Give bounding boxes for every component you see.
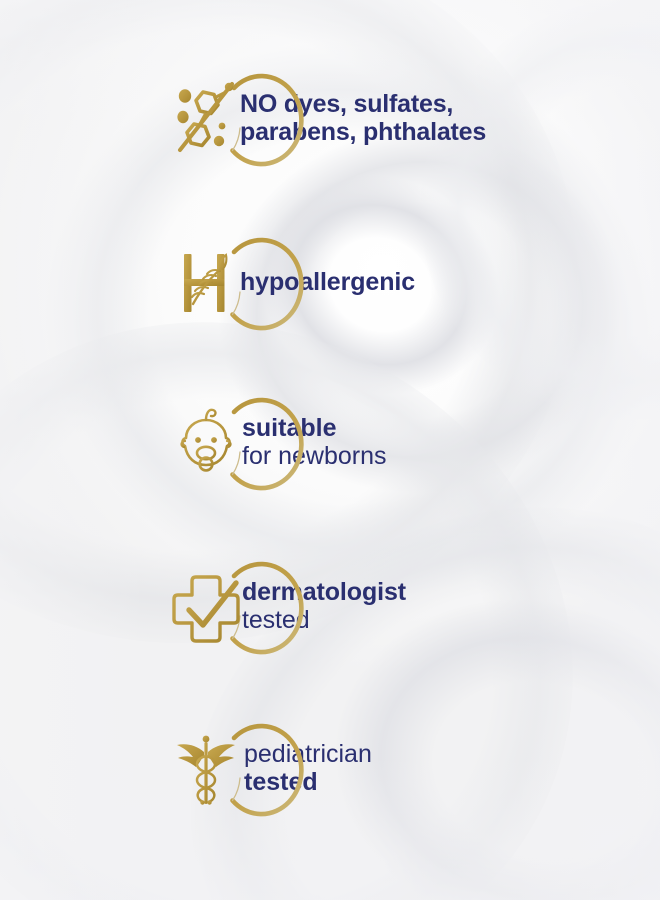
medical-cross-check-icon <box>160 550 252 662</box>
claim-badge-text: suitable for newborns <box>242 414 387 470</box>
claim-line: hypoallergenic <box>240 268 415 296</box>
claim-line: suitable <box>242 414 387 442</box>
claim-line: tested <box>242 606 406 634</box>
claim-line: tested <box>244 768 372 796</box>
claim-badge-text: NO dyes, sulfates, parabens, phthalates <box>240 90 486 146</box>
claim-badge-text: dermatologist tested <box>242 578 406 634</box>
claim-line: dermatologist <box>242 578 406 606</box>
newborn-baby-face-icon <box>160 386 252 498</box>
claim-line: parabens, phthalates <box>240 118 486 146</box>
hypoallergenic-feather-h-icon <box>160 226 252 338</box>
claim-line: pediatrician <box>244 740 372 768</box>
claim-line: for newborns <box>242 442 387 470</box>
claim-badge-hypoallergenic: hypoallergenic <box>160 222 415 342</box>
caduceus-icon <box>160 712 252 824</box>
claim-badge-suitable-for-newborns: suitable for newborns <box>160 382 387 502</box>
no-chemicals-molecule-icon <box>160 62 252 174</box>
claim-badge-text: pediatrician tested <box>244 740 372 796</box>
claim-badge-text: hypoallergenic <box>240 268 415 296</box>
claim-badge-dermatologist-tested: dermatologist tested <box>160 546 406 666</box>
claim-badge-pediatrician-tested: pediatrician tested <box>160 708 372 828</box>
claim-line: NO dyes, sulfates, <box>240 90 486 118</box>
product-claims-graphic: NO dyes, sulfates, parabens, phthalates <box>0 0 660 900</box>
claim-badge-no-dyes: NO dyes, sulfates, parabens, phthalates <box>160 58 486 178</box>
claims-list: NO dyes, sulfates, parabens, phthalates <box>0 0 660 900</box>
